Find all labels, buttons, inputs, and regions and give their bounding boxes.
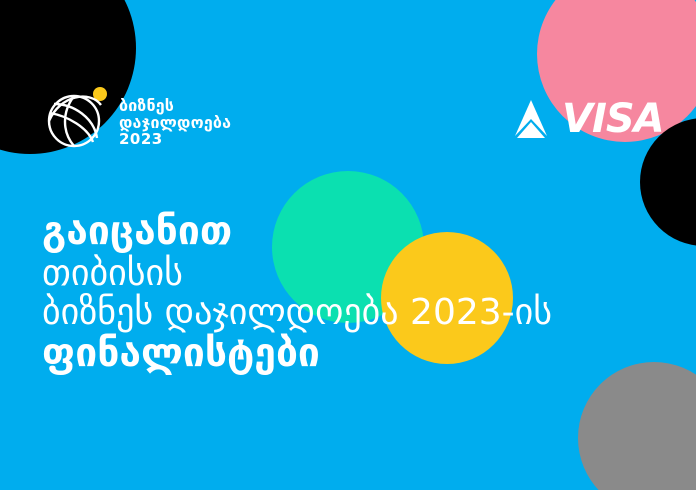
headline-line-4: ფინალისტები: [42, 334, 552, 374]
visa-trifold-triangle-icon: [508, 98, 554, 140]
brand-lockup: ბიზნეს დაჯილდოება 2023: [44, 82, 231, 152]
visa-lockup: VISA: [508, 98, 664, 140]
headline-block: გაიცანით თიბისის ბიზნეს დაჯილდოება 2023-…: [42, 212, 552, 374]
headline-line-2: თიბისის: [42, 255, 552, 292]
abstract-ball-lines-icon: [44, 82, 110, 152]
headline-line-1: გაიცანით: [42, 212, 552, 252]
brand-line-1: ბიზნეს: [119, 97, 231, 114]
promo-banner: ბიზნეს დაჯილდოება 2023 VISA გაიცანით თიბ…: [0, 0, 696, 490]
headline-line-3: ბიზნეს დაჯილდოება 2023-ის: [42, 294, 552, 331]
gray-circle-bottom-right: [578, 362, 696, 490]
brand-year: 2023: [119, 131, 231, 147]
visa-wordmark: VISA: [562, 99, 664, 139]
brand-line-2: დაჯილდოება: [119, 114, 231, 131]
brand-wordmark: ბიზნეს დაჯილდოება 2023: [119, 87, 231, 148]
